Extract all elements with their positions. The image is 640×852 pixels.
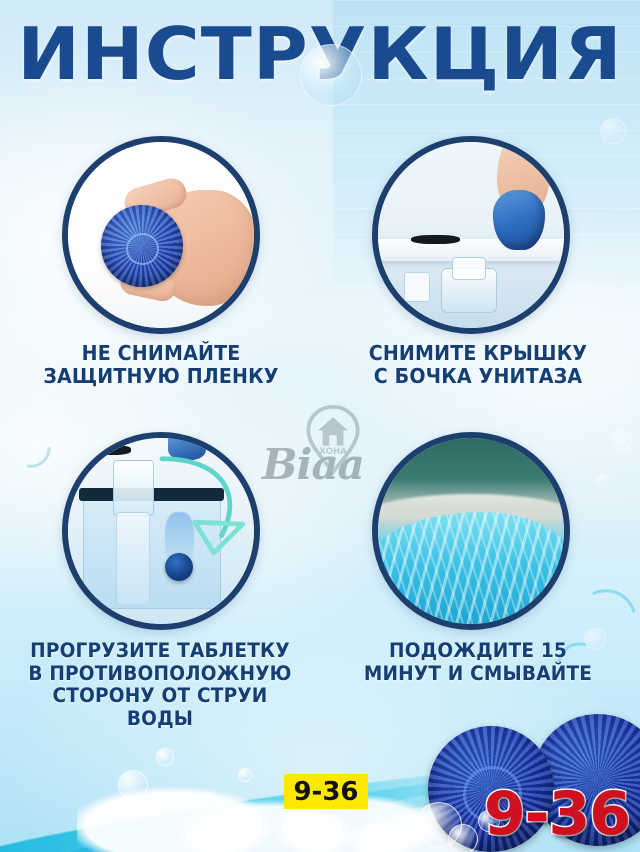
step-caption-3: ПРОГРУЗИТЕ ТАБЛЕТКУ В ПРОТИВОПОЛОЖНУЮ СТ… bbox=[12, 640, 308, 730]
step-photo-3 bbox=[62, 432, 260, 630]
lid-dark-strip bbox=[411, 235, 459, 244]
bubble-decor bbox=[596, 474, 609, 487]
bubble-decor bbox=[612, 430, 632, 450]
bubble-decor bbox=[86, 812, 102, 828]
overflow-tube bbox=[404, 272, 430, 302]
badge-red-9-36: 9-36 bbox=[484, 784, 630, 844]
bubble-decor bbox=[156, 748, 174, 766]
photo-cistern-lid-removed bbox=[378, 142, 564, 328]
step-caption-2: СНИМИТЕ КРЫШКУ С БОЧКА УНИТАЗА bbox=[330, 342, 626, 388]
photo-tablet-into-cistern bbox=[68, 438, 254, 624]
bubble-decor bbox=[600, 118, 626, 144]
bubble-decor bbox=[118, 770, 148, 800]
photo-hand-holding-tablet bbox=[68, 142, 254, 328]
step-caption-1: НЕ СНИМАЙТЕ ЗАЩИТНУЮ ПЛЕНКУ bbox=[14, 342, 309, 388]
bubble-decor bbox=[448, 824, 478, 852]
step-photo-1 bbox=[62, 136, 260, 334]
flushing-water bbox=[372, 512, 570, 630]
bubble-decor bbox=[196, 792, 220, 816]
watermark: ХОНА Віаа bbox=[258, 404, 410, 508]
valve-stem bbox=[116, 512, 149, 605]
infographic-canvas: ИНСТРУКЦИЯ bbox=[0, 0, 640, 852]
badge-yellow-9-36: 9-36 bbox=[284, 774, 368, 809]
fill-valve bbox=[113, 460, 154, 516]
step-photo-2 bbox=[372, 136, 570, 334]
step-caption-4: ПОДОЖДИТЕ 15 МИНУТ И СМЫВАЙТЕ bbox=[330, 640, 626, 685]
lid-dark-strip bbox=[90, 445, 131, 454]
blue-tablet bbox=[101, 205, 183, 287]
page-title: ИНСТРУКЦИЯ bbox=[0, 18, 640, 90]
watermark-script-text: Віаа bbox=[262, 440, 392, 489]
valve-top bbox=[452, 257, 485, 279]
blue-tablet bbox=[493, 190, 545, 250]
curved-arrow-icon bbox=[154, 453, 251, 568]
bubble-decor bbox=[238, 768, 252, 782]
